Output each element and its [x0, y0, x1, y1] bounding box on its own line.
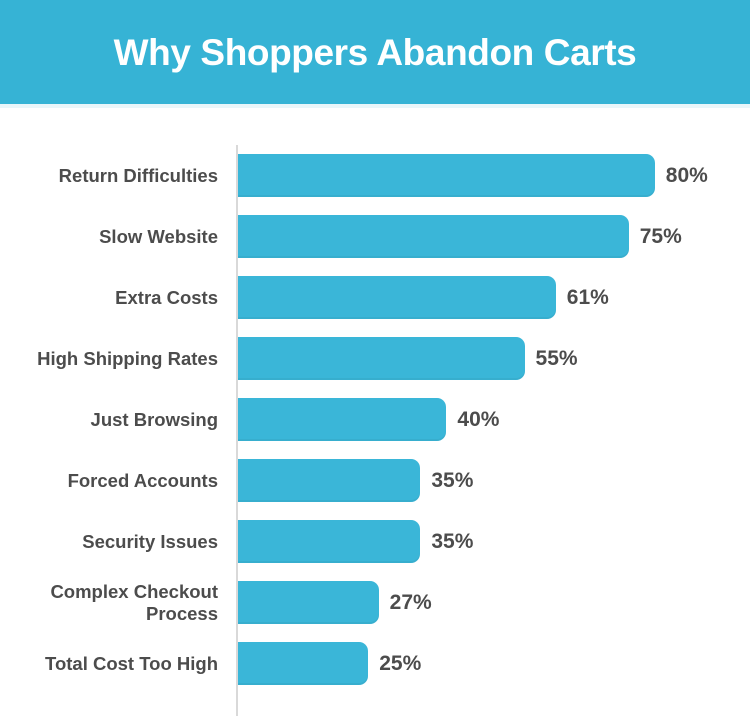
bar-category-label: Total Cost Too High: [0, 653, 218, 674]
bar-row: Slow Website75%: [0, 206, 750, 267]
bar-category-label: High Shipping Rates: [0, 348, 218, 369]
bar-fill[interactable]: [238, 459, 420, 502]
bar-fill[interactable]: [238, 154, 655, 197]
bar-track: 40%: [238, 398, 499, 441]
bar-row: Extra Costs61%: [0, 267, 750, 328]
bar-fill[interactable]: [238, 581, 379, 624]
bar-fill[interactable]: [238, 215, 629, 258]
bar-track: 35%: [238, 520, 473, 563]
bar-value-label: 35%: [431, 531, 473, 552]
bar-value-label: 80%: [666, 165, 708, 186]
bar-row: Complex CheckoutProcess27%: [0, 572, 750, 633]
bar-track: 25%: [238, 642, 421, 685]
bar-fill[interactable]: [238, 520, 420, 563]
bar-row: Just Browsing40%: [0, 389, 750, 450]
bar-category-label-line: Process: [0, 603, 218, 624]
bar-row: Forced Accounts35%: [0, 450, 750, 511]
bar-fill[interactable]: [238, 398, 446, 441]
bar-rows-container: Return Difficulties80%Slow Website75%Ext…: [0, 145, 750, 694]
bar-value-label: 55%: [536, 348, 578, 369]
bar-category-label: Slow Website: [0, 226, 218, 247]
bar-category-label: Complex CheckoutProcess: [0, 581, 218, 624]
bar-value-label: 75%: [640, 226, 682, 247]
bar-value-label: 25%: [379, 653, 421, 674]
bar-row: Total Cost Too High25%: [0, 633, 750, 694]
bar-fill[interactable]: [238, 337, 525, 380]
bar-value-label: 27%: [390, 592, 432, 613]
bar-track: 61%: [238, 276, 609, 319]
page-title: Why Shoppers Abandon Carts: [114, 34, 637, 71]
bar-value-label: 40%: [457, 409, 499, 430]
bar-category-label-line: Complex Checkout: [0, 581, 218, 602]
bar-row: Return Difficulties80%: [0, 145, 750, 206]
bar-track: 80%: [238, 154, 708, 197]
bar-category-label: Return Difficulties: [0, 165, 218, 186]
bar-row: Security Issues35%: [0, 511, 750, 572]
bar-fill[interactable]: [238, 642, 368, 685]
bar-category-label: Extra Costs: [0, 287, 218, 308]
header-banner: Why Shoppers Abandon Carts: [0, 0, 750, 104]
infographic-root: Why Shoppers Abandon Carts Return Diffic…: [0, 0, 750, 725]
bar-track: 75%: [238, 215, 682, 258]
bar-value-label: 61%: [567, 287, 609, 308]
bar-track: 55%: [238, 337, 578, 380]
bar-chart: Return Difficulties80%Slow Website75%Ext…: [0, 108, 750, 725]
bar-value-label: 35%: [431, 470, 473, 491]
bar-row: High Shipping Rates55%: [0, 328, 750, 389]
bar-track: 35%: [238, 459, 473, 502]
bar-category-label: Forced Accounts: [0, 470, 218, 491]
bar-category-label: Security Issues: [0, 531, 218, 552]
bar-track: 27%: [238, 581, 432, 624]
bar-fill[interactable]: [238, 276, 556, 319]
bar-category-label: Just Browsing: [0, 409, 218, 430]
